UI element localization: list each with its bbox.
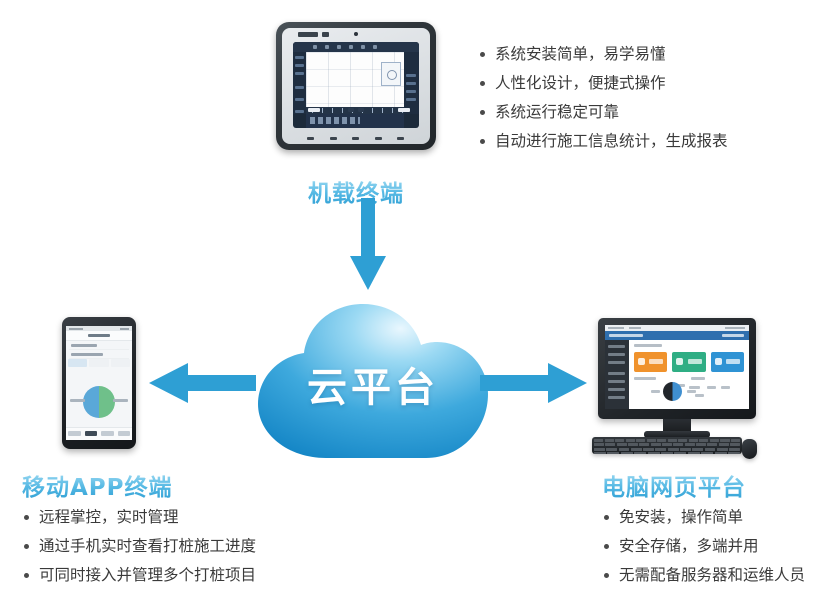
stat-card-blue[interactable] <box>711 352 744 372</box>
dashboard-stat-cards[interactable] <box>634 352 744 372</box>
nav-profile-icon[interactable] <box>118 431 131 436</box>
breadcrumb <box>634 344 662 347</box>
phone-pie-chart <box>83 386 115 418</box>
monitor-label: 电脑网页平台 <box>602 475 746 501</box>
list-item: 可同时接入并管理多个打桩项目 <box>22 561 256 590</box>
tablet-screen-gauge-card <box>381 62 401 86</box>
stat-card-green[interactable] <box>672 352 705 372</box>
monitor-screen <box>605 325 749 409</box>
tablet-inner-shell <box>282 28 430 144</box>
web-app-content <box>629 340 749 409</box>
tablet-body <box>276 22 436 150</box>
tablet-screen-status-bar <box>306 114 404 128</box>
diagram-canvas: 机载终端 系统安装简单，易学易懂 人性化设计，便捷式操作 系统运行稳定可靠 自动… <box>0 0 828 613</box>
monitor-feature-list: 免安装，操作简单 安全存储，多端并用 无需配备服务器和运维人员 <box>602 503 805 590</box>
phone-tab-bar[interactable] <box>68 359 130 367</box>
tablet-brand-mark-2 <box>322 32 329 37</box>
tablet-brand-mark <box>298 32 318 37</box>
tablet-screen <box>293 42 419 128</box>
cloud-platform-label: 云平台 <box>248 355 498 413</box>
phone-filter-row-1[interactable] <box>69 341 129 350</box>
arrow-tablet-to-cloud-icon <box>349 198 387 290</box>
phone-body <box>62 317 136 449</box>
web-app-sidebar[interactable] <box>605 340 629 409</box>
phone-screen <box>66 326 132 440</box>
arrow-cloud-to-monitor-icon <box>480 362 588 404</box>
stat-card-orange[interactable] <box>634 352 667 372</box>
list-item: 系统安装简单，易学易懂 <box>478 40 728 69</box>
list-item: 自动进行施工信息统计，生成报表 <box>478 127 728 156</box>
list-item: 通过手机实时查看打桩施工进度 <box>22 532 256 561</box>
phone-device <box>62 317 136 449</box>
monitor-frame <box>598 318 756 419</box>
list-item: 安全存储，多端并用 <box>602 532 805 561</box>
nav-alerts-icon[interactable] <box>101 431 114 436</box>
mouse[interactable] <box>742 439 757 459</box>
tablet-hardware-buttons[interactable] <box>300 136 412 141</box>
phone-label: 移动APP终端 <box>22 475 173 501</box>
tablet-camera-icon <box>354 32 358 36</box>
phone-bottom-nav[interactable] <box>66 427 132 440</box>
phone-filter-row-2[interactable] <box>69 350 129 359</box>
web-app-header <box>605 331 749 340</box>
dashboard-gauge <box>663 382 682 401</box>
list-item: 无需配备服务器和运维人员 <box>602 561 805 590</box>
nav-stats-icon[interactable] <box>85 431 98 436</box>
tablet-screen-right-panel <box>404 52 419 114</box>
tablet-device: 机载终端 <box>276 22 436 150</box>
tablet-screen-axis <box>306 107 404 114</box>
phone-app-title-bar <box>66 331 132 341</box>
phone-label-wrap: 移动APP终端 <box>22 468 173 502</box>
monitor-device <box>592 318 762 458</box>
tab-report[interactable] <box>111 359 130 367</box>
tablet-screen-left-panel <box>293 52 306 114</box>
list-item: 免安装，操作简单 <box>602 503 805 532</box>
keyboard[interactable] <box>592 437 742 454</box>
cloud-platform-node: 云平台 <box>248 298 498 466</box>
nav-home-icon[interactable] <box>68 431 81 436</box>
list-item: 远程掌控，实时管理 <box>22 503 256 532</box>
tablet-feature-list: 系统安装简单，易学易懂 人性化设计，便捷式操作 系统运行稳定可靠 自动进行施工信… <box>478 40 728 156</box>
arrow-cloud-to-phone-icon <box>148 362 256 404</box>
tablet-screen-toolbar <box>293 42 419 52</box>
list-item: 人性化设计，便捷式操作 <box>478 69 728 98</box>
phone-chart-legend-right <box>113 399 128 402</box>
phone-feature-list: 远程掌控，实时管理 通过手机实时查看打桩施工进度 可同时接入并管理多个打桩项目 <box>22 503 256 590</box>
phone-chart-legend-left <box>70 399 85 402</box>
list-item: 系统运行稳定可靠 <box>478 98 728 127</box>
tab-progress[interactable] <box>89 359 108 367</box>
monitor-label-wrap: 电脑网页平台 <box>602 468 746 502</box>
tab-overview[interactable] <box>68 359 87 367</box>
